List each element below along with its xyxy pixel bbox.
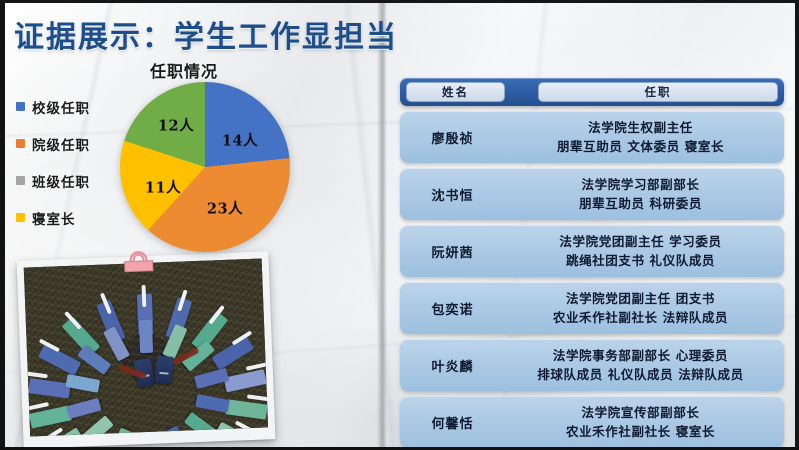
role-line: 朋辈互助员 科研委员 <box>505 194 776 213</box>
cell-student-roles: 法学院党团副主任 学习委员跳绳社团支书 礼仪队成员 <box>505 232 784 271</box>
slide-canvas: 证据展示：学生工作显担当 任职情况 校级任职 院级任职 班级任职 寝室长 14人… <box>0 0 799 450</box>
cell-student-roles: 法学院宣传部副部长农业禾作社副社长 寝室长 <box>505 403 784 442</box>
evidence-photo-frame <box>16 251 275 449</box>
legend-item-school: 校级任职 <box>16 88 90 125</box>
frame-edge-top <box>0 0 799 3</box>
table-header-row: 姓名 任职 <box>400 78 784 106</box>
legend-swatch-icon <box>16 176 25 185</box>
page-title: 证据展示：学生工作显担当 <box>14 12 398 56</box>
id-booklet <box>155 356 174 384</box>
cell-student-name: 包奕诺 <box>400 299 505 318</box>
frame-edge-left <box>0 0 5 450</box>
table-row[interactable]: 阮妍茜法学院党团副主任 学习委员跳绳社团支书 礼仪队成员 <box>400 225 784 277</box>
cell-student-name: 廖殷祯 <box>400 128 505 147</box>
table-row[interactable]: 叶炎麟法学院事务部副部长 心理委员排球队成员 礼仪队成员 法辩队成员 <box>400 339 784 391</box>
cell-student-name: 叶炎麟 <box>400 356 505 375</box>
table-row[interactable]: 廖殷祯法学院生权副主任朋辈互助员 文体委员 寝室长 <box>400 111 784 163</box>
legend-label: 寝室长 <box>32 208 76 228</box>
cell-student-name: 阮妍茜 <box>400 242 505 261</box>
chart-legend: 校级任职 院级任职 班级任职 寝室长 <box>16 88 90 236</box>
role-line: 法学院宣传部副部长 <box>505 403 776 422</box>
role-line: 法学院生权副主任 <box>505 118 776 137</box>
cell-student-name: 沈书恒 <box>400 185 505 204</box>
role-line: 朋辈互助员 文体委员 寝室长 <box>505 137 776 156</box>
role-line: 法学院党团副主任 团支书 <box>505 289 776 308</box>
legend-item-college: 院级任职 <box>16 125 90 162</box>
cell-student-roles: 法学院学习部副部长朋辈互助员 科研委员 <box>505 175 784 214</box>
chart-title: 任职情况 <box>150 58 218 82</box>
legend-label: 校级任职 <box>32 97 90 117</box>
role-line: 跳绳社团支书 礼仪队成员 <box>505 251 776 270</box>
role-line: 农业禾作社副社长 寝室长 <box>505 422 776 441</box>
cell-student-roles: 法学院事务部副部长 心理委员排球队成员 礼仪队成员 法辩队成员 <box>505 346 784 385</box>
column-header-name: 姓名 <box>406 82 505 102</box>
legend-swatch-icon <box>16 139 25 148</box>
table-row[interactable]: 沈书恒法学院学习部副部长朋辈互助员 科研委员 <box>400 168 784 220</box>
student-badge <box>138 320 152 353</box>
legend-item-class: 班级任职 <box>16 162 90 199</box>
role-line: 法学院学习部副部长 <box>505 175 776 194</box>
pie-chart: 14人 23人 11人 12人 <box>120 82 290 252</box>
table-row[interactable]: 包奕诺法学院党团副主任 团支书农业禾作社副社长 法辩队成员 <box>400 282 784 334</box>
legend-label: 班级任职 <box>32 171 90 191</box>
role-line: 排球队成员 礼仪队成员 法辩队成员 <box>505 365 776 384</box>
position-table: 姓名 任职 廖殷祯法学院生权副主任朋辈互助员 文体委员 寝室长沈书恒法学院学习部… <box>400 78 784 448</box>
cell-student-roles: 法学院党团副主任 团支书农业禾作社副社长 法辩队成员 <box>505 289 784 328</box>
pie-slice-label-class: 12人 <box>158 115 194 136</box>
student-badge <box>143 433 157 436</box>
role-line: 法学院党团副主任 学习委员 <box>505 232 776 251</box>
column-header-role: 任职 <box>538 82 778 102</box>
role-line: 农业禾作社副社长 法辩队成员 <box>505 308 776 327</box>
pie-disc <box>120 82 290 252</box>
table-body: 廖殷祯法学院生权副主任朋辈互助员 文体委员 寝室长沈书恒法学院学习部副部长朋辈互… <box>400 111 784 448</box>
legend-swatch-icon <box>16 213 25 222</box>
pie-slice-label-school: 14人 <box>222 130 258 151</box>
table-row[interactable]: 何馨恬法学院宣传部副部长农业禾作社副社长 寝室长 <box>400 396 784 448</box>
lanyard-strap <box>142 285 147 307</box>
legend-label: 院级任职 <box>32 134 90 154</box>
legend-swatch-icon <box>16 102 25 111</box>
pie-slice-label-dorm: 11人 <box>145 177 181 198</box>
pie-slice-label-college: 23人 <box>207 198 243 219</box>
evidence-photo <box>24 258 268 436</box>
role-line: 法学院事务部副部长 心理委员 <box>505 346 776 365</box>
legend-item-dorm: 寝室长 <box>16 199 90 236</box>
cell-student-roles: 法学院生权副主任朋辈互助员 文体委员 寝室长 <box>505 118 784 157</box>
pane-divider <box>377 0 387 450</box>
cell-student-name: 何馨恬 <box>400 413 505 432</box>
frame-edge-right <box>795 0 799 450</box>
